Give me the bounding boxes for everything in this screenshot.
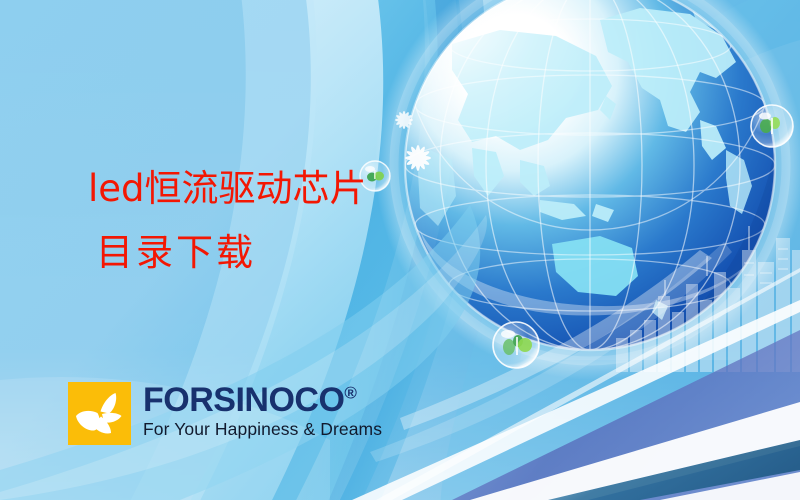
logo-text-block: FORSINOCO® For Your Happiness & Dreams [143,382,382,439]
bubble-right-edge [751,105,793,147]
headline-line-1: led恒流驱动芯片 [88,170,367,207]
four-petal-pinwheel-icon [68,382,131,445]
promo-banner: led恒流驱动芯片 目录下载 FORSINOCO® For Your Happi… [0,0,800,500]
company-logo[interactable]: FORSINOCO® For Your Happiness & Dreams [68,382,382,445]
logo-wordmark-text: FORSINOCO [143,381,344,419]
logo-wordmark: FORSINOCO® [143,383,382,417]
headline-line-2: 目录下载 [96,234,256,271]
registered-trademark-icon: ® [344,384,357,403]
logo-mark [68,382,131,445]
bubble-plant-center [493,322,539,368]
logo-tagline: For Your Happiness & Dreams [143,419,382,439]
